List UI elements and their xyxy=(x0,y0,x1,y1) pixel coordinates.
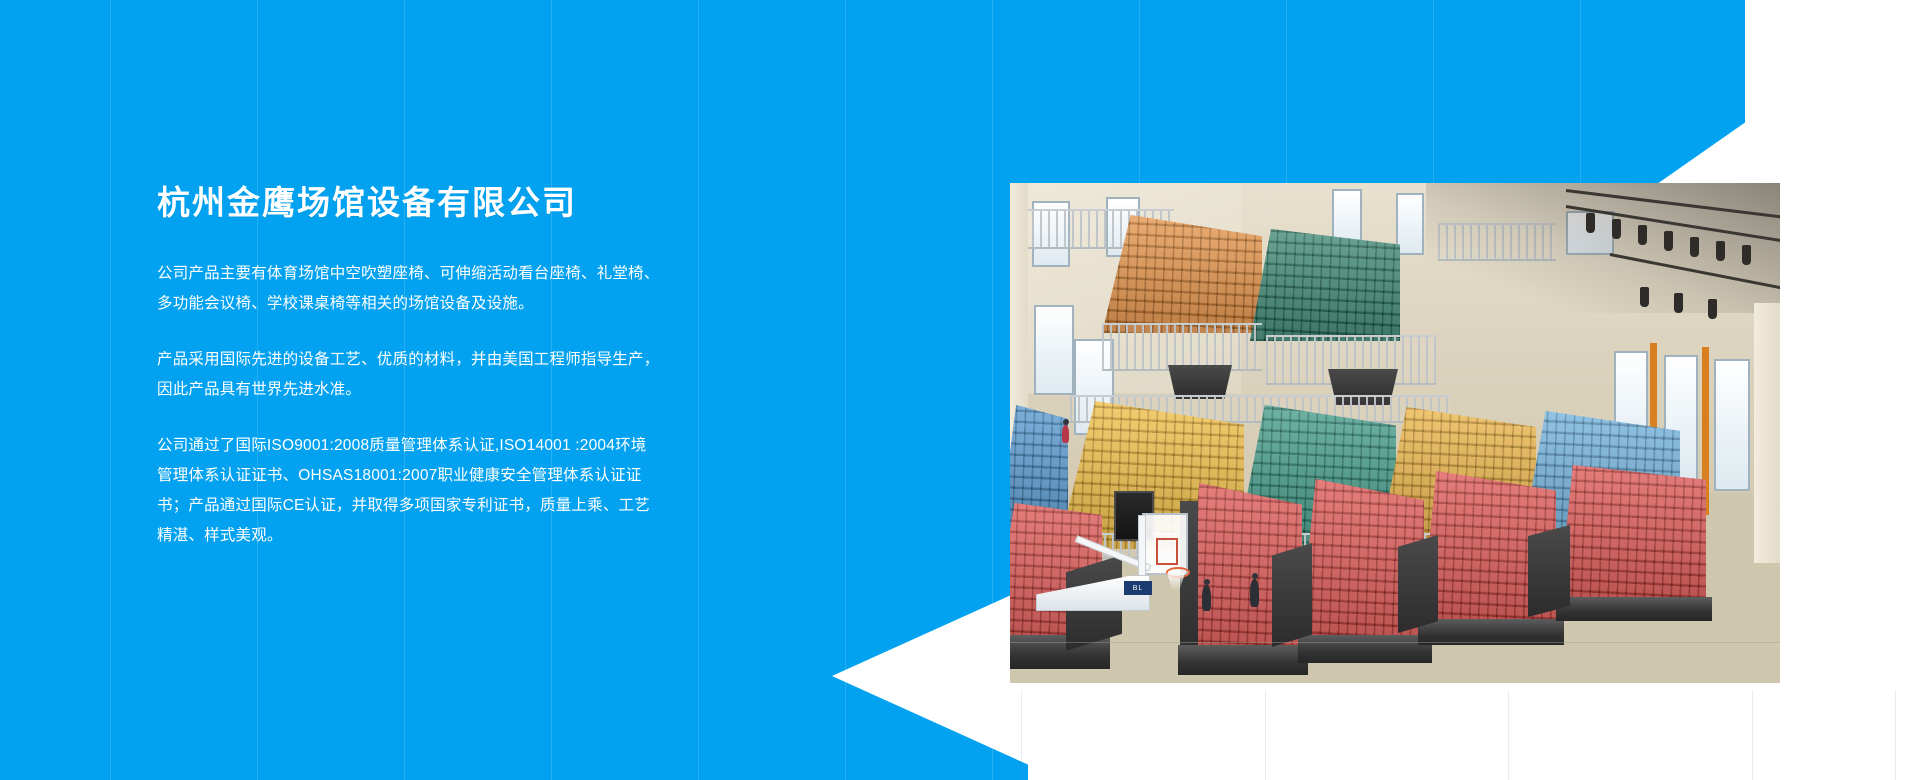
person-head-1 xyxy=(1204,579,1210,585)
bleacher-stairs-2 xyxy=(1272,543,1312,647)
paragraph-certifications: 公司通过了国际ISO9001:2008质量管理体系认证,ISO14001 :20… xyxy=(157,431,662,551)
person-walking-2 xyxy=(1250,579,1259,607)
stage-light-4 xyxy=(1664,231,1673,251)
window-right-tall-3 xyxy=(1714,359,1750,491)
upper-deck-railing-left xyxy=(1102,323,1262,371)
person-head-2 xyxy=(1252,573,1258,579)
court-floor-line xyxy=(1010,642,1780,643)
bleacher-stairs-4 xyxy=(1528,525,1570,617)
company-title: 杭州金鹰场馆设备有限公司 xyxy=(157,182,677,225)
paragraph-products: 公司产品主要有体育场馆中空吹塑座椅、可伸缩活动看台座椅、礼堂椅、多功能会议椅、学… xyxy=(157,259,662,319)
gymnasium-photo: BL xyxy=(1010,183,1780,683)
retractable-bleacher-red-5 xyxy=(1558,465,1706,613)
person-head-3 xyxy=(1063,419,1069,425)
stage-light-3 xyxy=(1638,225,1647,245)
promo-banner: 杭州金鹰场馆设备有限公司 公司产品主要有体育场馆中空吹塑座椅、可伸缩活动看台座椅… xyxy=(0,0,1920,780)
person-walking-1 xyxy=(1202,585,1211,611)
person-upper-deck xyxy=(1062,425,1069,443)
ceiling-truss xyxy=(1426,183,1780,313)
stage-light-2 xyxy=(1612,219,1621,239)
vomitory-left xyxy=(1168,365,1232,399)
window-left-mid xyxy=(1034,305,1074,395)
bleacher-base-3 xyxy=(1298,635,1432,663)
stage-light-9 xyxy=(1674,293,1683,313)
seating-deck-upper-green xyxy=(1250,229,1400,341)
lower-white-area xyxy=(1028,680,1920,780)
paragraph-technology: 产品采用国际先进的设备工艺、优质的材料，并由美国工程师指导生产，因此产品具有世界… xyxy=(157,345,662,405)
bleacher-stairs-3 xyxy=(1398,535,1438,633)
bleacher-base-2 xyxy=(1178,645,1308,675)
stage-light-7 xyxy=(1742,245,1751,265)
hoop-brand-badge: BL xyxy=(1124,581,1152,595)
window-center-2 xyxy=(1396,193,1424,255)
stage-light-10 xyxy=(1708,299,1717,319)
stage-light-6 xyxy=(1716,241,1725,261)
stage-light-8 xyxy=(1640,287,1649,307)
stage-light-1 xyxy=(1586,213,1595,233)
stage-light-5 xyxy=(1690,237,1699,257)
backboard-square xyxy=(1156,538,1178,565)
photo-scene: BL xyxy=(1010,183,1780,683)
bleacher-base-5 xyxy=(1556,597,1712,621)
banner-text-block: 杭州金鹰场馆设备有限公司 公司产品主要有体育场馆中空吹塑座椅、可伸缩活动看台座椅… xyxy=(157,182,677,551)
pillar-right xyxy=(1754,303,1780,563)
